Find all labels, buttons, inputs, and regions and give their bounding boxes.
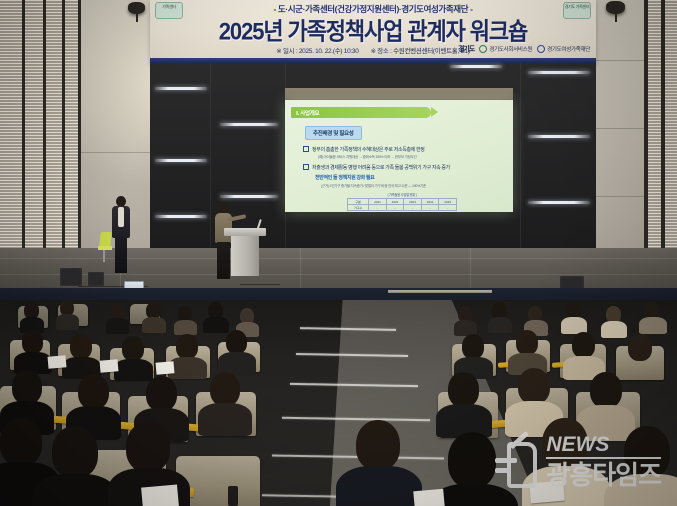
slide-bullet-2-note: (근거) 1인가구 증가율 지속증가 / 맞벌이 가구 비중 전국 최고 수준 … [321, 184, 426, 189]
person-shoulders [601, 321, 627, 338]
logo-women-family-foundation: 경기도여성가족재단 [537, 45, 590, 53]
av-cable [240, 284, 280, 285]
event-banner: 가족센터 경기도 가족센터 - 도·시군·가족센터(건강가정지원센터)·경기도여… [150, 0, 596, 63]
handout-paper [100, 359, 119, 373]
person-shoulders [114, 359, 153, 381]
banner-date-label: ※ 일시 : 2025. 10. 22.(수) 10:30 [276, 48, 358, 55]
person-head [78, 374, 109, 409]
led-light-strip [155, 215, 207, 218]
person-head [52, 426, 98, 478]
slide-bullet-2-text2: 전반적인 돌 정책지원 강화 필요 [315, 174, 374, 181]
person-shoulders [336, 466, 422, 506]
banner-sponsor-logos: 경기도 경기도사회서비스원 경기도여성가족재단 [458, 44, 590, 54]
table-cell: - [439, 205, 457, 211]
slide-table-caption: [ 가족돌봄 사업별 현황 ] [347, 192, 457, 198]
person-shoulders [174, 320, 197, 335]
handout-paper [141, 484, 179, 506]
handout-paper [413, 489, 444, 506]
person-head [146, 376, 177, 411]
table-cell: - [369, 205, 387, 211]
floor-speaker [60, 268, 82, 286]
chair-back [99, 232, 112, 247]
banner-title-text: 2025년 가족정책사업 관계자 워크숍 [150, 13, 596, 48]
chair-leg [103, 250, 105, 262]
person-head [126, 422, 170, 472]
audience-seating-area [0, 300, 677, 506]
person-shoulders [106, 318, 129, 334]
person-head [462, 334, 484, 359]
person-head [590, 372, 622, 408]
person-shoulders [639, 317, 667, 334]
person-shoulders [619, 359, 663, 384]
logo-text: 경기도사회서비스원 [489, 45, 532, 53]
person-head [226, 330, 247, 354]
person-head [628, 334, 652, 361]
slide-header-text: Ⅰ. 사업개요 [296, 109, 319, 117]
handout-paper [48, 355, 67, 369]
slide-section-header: Ⅰ. 사업개요 [291, 107, 431, 118]
person-head [542, 418, 588, 470]
slide-bullet-1-note: (예) 아이돌봄 서비스 지원대상 → 중위소득 150% 이하 → 한부모 가… [318, 155, 417, 160]
person-head [572, 332, 595, 358]
podium-top-surface [224, 228, 266, 236]
person-shoulders [604, 474, 677, 506]
stage-chair [98, 232, 112, 262]
seat-frame [228, 486, 238, 506]
person-shoulders [198, 403, 252, 436]
person-head [624, 426, 670, 478]
logo-gyeonggi-do: 경기도 [458, 44, 474, 54]
lectern-podium [228, 228, 262, 280]
person-shoulders [32, 474, 118, 506]
person-head [0, 418, 42, 466]
person-head [448, 372, 479, 407]
led-light-strip [528, 135, 590, 138]
logo-circle-icon [479, 45, 487, 53]
slide-bullet-1-text: 정부의 촘촘한 가족정책의 수혜대상은 주로 저소득층에 한정 [312, 147, 425, 153]
logo-social-service: 경기도사회서비스원 [479, 45, 532, 53]
led-light-strip [220, 195, 278, 198]
person-shoulders [488, 317, 512, 333]
person-head [12, 370, 42, 404]
checkbox-bullet-icon [303, 146, 309, 152]
person-shoulders [218, 352, 256, 374]
slide-bullet-1: 정부의 촘촘한 가족정책의 수혜대상은 주로 저소득층에 한정 [303, 146, 425, 153]
person-head [22, 330, 43, 354]
table-cell: - [386, 205, 404, 211]
table-row: 가구수 - - - - - [348, 205, 457, 211]
person-shoulders [203, 317, 229, 333]
standing-staff-person [112, 196, 132, 274]
logo-text: 경기도여성가족재단 [547, 45, 590, 53]
table-cell: 가구수 [348, 205, 369, 211]
person-shoulders [56, 314, 79, 330]
person-legs [115, 237, 127, 273]
checkbox-bullet-icon [303, 164, 309, 170]
person-shoulders [142, 317, 166, 333]
person-head [516, 330, 538, 355]
table-cell: - [404, 205, 422, 211]
floor-speaker [88, 272, 104, 286]
chair-seat [98, 246, 112, 250]
person-head [210, 372, 240, 406]
led-light-strip [155, 159, 207, 162]
logo-circle-icon [537, 45, 545, 53]
podium-body [231, 236, 259, 276]
slide-data-table: [ 가족돌봄 사업별 현황 ] 구분 2021 2022 2023 2024 2… [347, 192, 457, 211]
person-head [176, 334, 198, 359]
led-light-strip [528, 71, 590, 74]
ceiling-spotlight [606, 1, 625, 14]
person-head [448, 432, 496, 488]
table-cell: - [421, 205, 439, 211]
person-head [122, 336, 144, 361]
handout-paper [156, 361, 175, 375]
slide-bullet-2: 저출생과 경제활동 병행 어려움 등으로 가족 돌봄 공백위기 가구 지속 증가 [303, 164, 450, 171]
conference-photo-scene: 가족센터 경기도 가족센터 - 도·시군·가족센터(건강가정지원센터)·경기도여… [0, 0, 677, 506]
led-light-strip [528, 201, 590, 204]
person-head [356, 420, 400, 470]
stair-step [388, 290, 492, 293]
person-scarf [118, 207, 124, 227]
projection-screen: Ⅰ. 사업개요 추진배경 및 필요성 정부의 촘촘한 가족정책의 수혜대상은 주… [285, 100, 513, 212]
backdrop-seam [520, 63, 521, 278]
slide-subheading: 추진배경 및 필요성 [305, 126, 362, 140]
ceiling-spotlight [128, 2, 145, 14]
banner-place-label: ※ 장소 : 수원컨벤션센터(이벤트홀, B1) [371, 48, 470, 55]
led-light-strip [220, 123, 278, 126]
handout-paper [529, 481, 565, 504]
backdrop-seam [210, 63, 211, 278]
person-head [70, 334, 92, 359]
led-light-strip [155, 87, 207, 90]
slide-bullet-2-text: 저출생과 경제활동 병행 어려움 등으로 가족 돌봄 공백위기 가구 지속 증가 [312, 165, 450, 171]
person-head [518, 368, 550, 404]
led-light-strip [450, 65, 502, 68]
